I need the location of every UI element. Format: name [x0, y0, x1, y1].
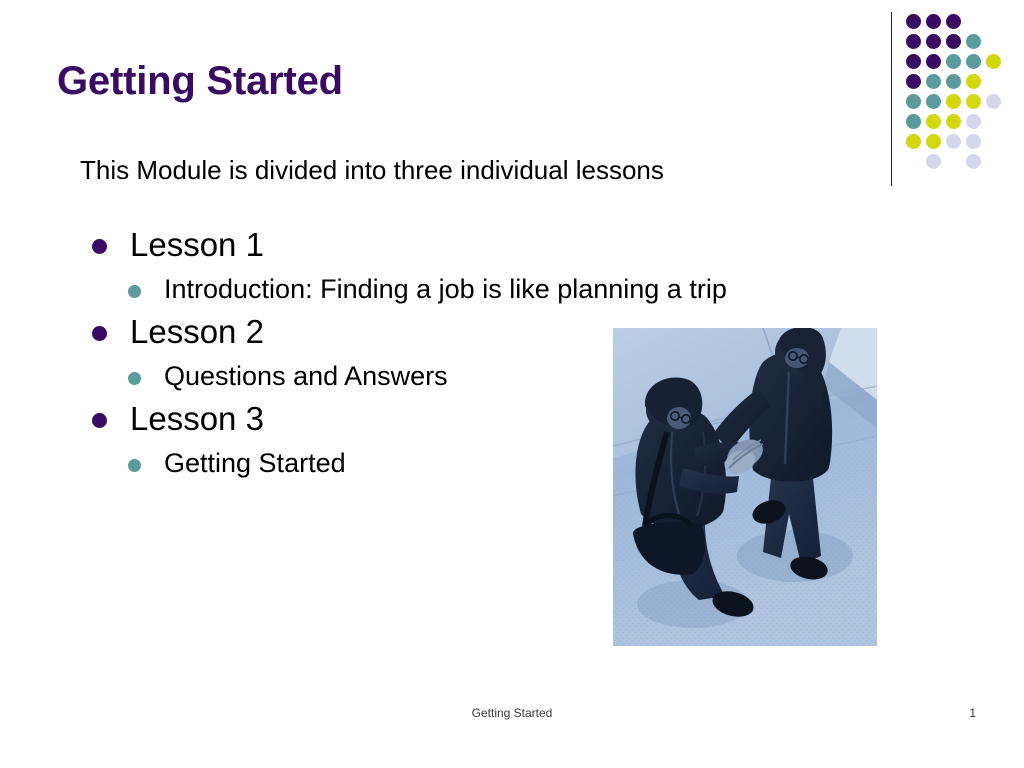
handshake-photo: [613, 328, 877, 646]
presentation-slide: Getting Started This Module is divided i…: [0, 0, 1024, 768]
bullet-label: Lesson 1: [130, 226, 264, 263]
deco-dot-purple: [926, 54, 941, 69]
bullet-disc-teal-icon: [128, 285, 141, 298]
deco-dot-teal: [906, 94, 921, 109]
deco-dot-lavender: [946, 134, 961, 149]
bullet-disc-teal-icon: [128, 372, 141, 385]
deco-dot-yellow: [946, 114, 961, 129]
deco-dot-yellow: [966, 94, 981, 109]
bullet-label: Lesson 3: [130, 400, 264, 437]
deco-dot-yellow: [926, 134, 941, 149]
deco-dot-teal: [926, 74, 941, 89]
deco-dot-teal: [946, 74, 961, 89]
deco-dot-purple: [906, 34, 921, 49]
bullet-disc-purple-icon: [92, 239, 107, 254]
deco-dot-lavender: [966, 154, 981, 169]
decorative-dot-grid: [886, 6, 1024, 186]
slide-subtitle: This Module is divided into three indivi…: [80, 155, 664, 186]
deco-dot-teal: [926, 94, 941, 109]
deco-dot-purple: [926, 34, 941, 49]
page-title: Getting Started: [57, 59, 343, 104]
deco-dot-purple: [906, 14, 921, 29]
deco-dot-yellow: [946, 94, 961, 109]
deco-dot-lavender: [986, 94, 1001, 109]
deco-dot-teal: [966, 34, 981, 49]
deco-dot-lavender: [966, 134, 981, 149]
bullet-item-level-2: Introduction: Finding a job is like plan…: [78, 271, 898, 307]
bullet-label: Getting Started: [164, 448, 346, 478]
deco-dot-purple: [946, 34, 961, 49]
deco-dot-lavender: [966, 114, 981, 129]
deco-dot-purple: [906, 74, 921, 89]
deco-dot-yellow: [926, 114, 941, 129]
deco-dot-teal: [966, 54, 981, 69]
deco-dot-purple: [946, 14, 961, 29]
bullet-disc-purple-icon: [92, 326, 107, 341]
bullet-disc-purple-icon: [92, 413, 107, 428]
deco-dot-yellow: [906, 134, 921, 149]
vertical-divider-rule: [891, 12, 892, 186]
deco-dot-purple: [906, 54, 921, 69]
deco-dot-purple: [926, 14, 941, 29]
deco-dot-yellow: [986, 54, 1001, 69]
bullet-label: Questions and Answers: [164, 361, 448, 391]
bullet-disc-teal-icon: [128, 459, 141, 472]
page-number: 1: [969, 706, 976, 720]
bullet-label: Introduction: Finding a job is like plan…: [164, 274, 727, 304]
footer-text: Getting Started: [0, 706, 1024, 720]
deco-dot-lavender: [926, 154, 941, 169]
deco-dot-yellow: [966, 74, 981, 89]
bullet-item-level-1: Lesson 1: [78, 222, 898, 269]
deco-dot-teal: [946, 54, 961, 69]
deco-dot-teal: [906, 114, 921, 129]
bullet-label: Lesson 2: [130, 313, 264, 350]
